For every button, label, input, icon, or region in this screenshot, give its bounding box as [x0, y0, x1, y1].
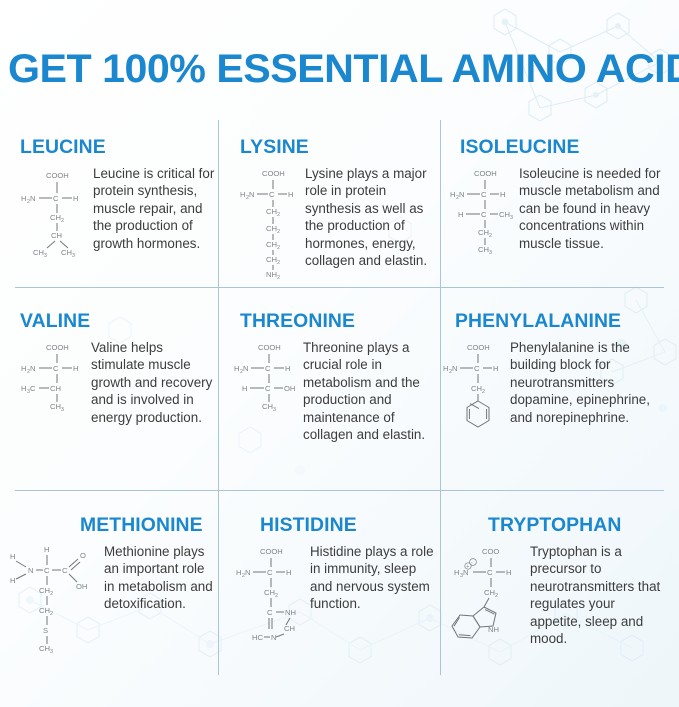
svg-text:C: C: [481, 190, 487, 199]
svg-text:2: 2: [277, 245, 280, 251]
svg-text:2: 2: [50, 611, 53, 617]
svg-text:H: H: [44, 545, 49, 554]
svg-text:N: N: [459, 190, 464, 199]
svg-text:2: 2: [275, 593, 278, 599]
structure-isoleucine: COOH H2N C H H C CH3 CH2: [460, 165, 516, 253]
svg-text:H: H: [286, 568, 291, 577]
svg-text:CH: CH: [284, 624, 295, 633]
page-title: GET 100% ESSENTIAL AMINO ACIDS: [8, 48, 679, 90]
svg-text:C: C: [269, 190, 275, 199]
card-lysine: LYSINE COOH H2N C H CH2 CH2: [240, 138, 436, 269]
svg-text:NH: NH: [266, 270, 277, 279]
svg-text:CH: CH: [39, 586, 50, 595]
svg-text:H: H: [450, 190, 455, 199]
svg-text:H: H: [506, 568, 511, 577]
svg-text:2: 2: [495, 593, 498, 599]
svg-text:3: 3: [489, 250, 492, 256]
svg-text:3: 3: [510, 215, 513, 221]
svg-text:CH: CH: [50, 213, 61, 222]
svg-text:C: C: [487, 568, 493, 577]
card-valine: VALINE COOH H2N C H H3C CH: [20, 312, 216, 426]
svg-text:C: C: [53, 364, 59, 373]
svg-text:CH: CH: [266, 207, 277, 216]
svg-text:C: C: [267, 608, 273, 617]
svg-text:CH: CH: [39, 606, 50, 615]
svg-text:H: H: [73, 194, 78, 203]
svg-text:C: C: [267, 568, 273, 577]
svg-text:COO: COO: [482, 547, 499, 556]
svg-text:CH: CH: [266, 240, 277, 249]
card-title-tryptophan: TRYPTOPHAN: [488, 516, 669, 536]
structure-histidine: COOH H2N C H CH2 C NH: [240, 543, 302, 643]
svg-text:C: C: [62, 566, 68, 575]
svg-text:COOH: COOH: [474, 169, 497, 178]
card-description-histidine: Histidine plays a role in immunity, slee…: [310, 543, 436, 613]
card-description-methionine: Methionine plays an important role in me…: [104, 543, 216, 613]
svg-text:N: N: [30, 364, 35, 373]
svg-text:H: H: [242, 384, 247, 393]
card-title-isoleucine: ISOLEUCINE: [460, 138, 669, 158]
svg-text:2: 2: [50, 591, 53, 597]
svg-text:CH: CH: [264, 588, 275, 597]
amino-acid-grid: LEUCINE COOH H2N C H CH2 CH: [0, 120, 679, 680]
svg-text:2: 2: [482, 389, 485, 395]
card-title-leucine: LEUCINE: [20, 138, 220, 158]
svg-text:CH: CH: [262, 402, 273, 411]
svg-text:COOH: COOH: [46, 171, 69, 180]
svg-text:S: S: [43, 626, 48, 635]
card-tryptophan: TRYPTOPHAN COO - H3N + C H: [460, 516, 665, 647]
card-description-threonine: Threonine plays a crucial role in metabo…: [303, 339, 436, 443]
svg-text:HC: HC: [252, 633, 263, 642]
structure-threonine: COOH H2N C H H C OH CH3: [240, 339, 300, 411]
structure-lysine: COOH H2N C H CH2 CH2 CH2: [240, 165, 302, 265]
card-histidine: HISTIDINE COOH H2N C H CH2 C: [240, 516, 436, 643]
svg-text:CH: CH: [499, 210, 510, 219]
svg-text:H: H: [240, 190, 245, 199]
svg-text:N: N: [28, 566, 33, 575]
card-description-isoleucine: Isoleucine is needed for muscle metaboli…: [519, 165, 665, 252]
svg-text:N: N: [452, 364, 457, 373]
grid-divider-vertical-1: [218, 120, 219, 675]
card-description-leucine: Leucine is critical for protein synthesi…: [93, 165, 216, 252]
svg-text:CH: CH: [266, 255, 277, 264]
card-title-phenylalanine: PHENYLALANINE: [455, 312, 671, 332]
svg-text:N: N: [30, 194, 35, 203]
structure-methionine: H H H N C C O: [20, 543, 96, 651]
svg-text:N: N: [271, 633, 276, 642]
svg-text:CH: CH: [33, 248, 44, 257]
card-description-tryptophan: Tryptophan is a precursor to neurotransm…: [530, 543, 665, 647]
svg-text:H: H: [234, 364, 239, 373]
svg-text:C: C: [265, 384, 271, 393]
svg-text:N: N: [243, 364, 248, 373]
svg-text:C: C: [53, 194, 59, 203]
svg-text:H: H: [458, 210, 463, 219]
card-title-valine: VALINE: [20, 312, 220, 332]
svg-text:2: 2: [489, 233, 492, 239]
svg-text:2: 2: [277, 212, 280, 218]
svg-text:H: H: [10, 576, 15, 585]
svg-text:2: 2: [277, 275, 280, 281]
svg-text:CH: CH: [50, 384, 61, 393]
svg-text:CH: CH: [39, 644, 50, 653]
svg-text:CH: CH: [51, 231, 62, 240]
svg-text:COOH: COOH: [262, 169, 285, 178]
svg-text:C: C: [30, 384, 36, 393]
svg-text:2: 2: [277, 260, 280, 266]
svg-text:H: H: [21, 194, 26, 203]
card-title-histidine: HISTIDINE: [260, 516, 440, 536]
svg-text:H: H: [443, 364, 448, 373]
svg-text:CH: CH: [478, 245, 489, 254]
svg-text:COOH: COOH: [467, 343, 490, 352]
structure-phenylalanine: COOH H2N C H CH2: [455, 339, 507, 429]
svg-text:H: H: [285, 364, 290, 373]
card-description-phenylalanine: Phenylalanine is the building block for …: [510, 339, 667, 426]
svg-text:COOH: COOH: [46, 343, 69, 352]
card-phenylalanine: PHENYLALANINE COOH H2N C H CH2: [455, 312, 667, 429]
svg-text:O: O: [80, 551, 86, 560]
svg-text:C: C: [265, 364, 271, 373]
svg-text:H: H: [21, 384, 26, 393]
svg-text:C: C: [44, 566, 50, 575]
svg-text:H: H: [500, 190, 505, 199]
card-title-threonine: THREONINE: [240, 312, 440, 332]
svg-text:H: H: [288, 190, 293, 199]
card-isoleucine: ISOLEUCINE COOH H2N C H H C: [460, 138, 665, 253]
svg-text:N: N: [249, 190, 254, 199]
grid-divider-horizontal-2: [15, 490, 664, 491]
structure-tryptophan: COO - H3N + C H CH2: [460, 543, 522, 643]
card-description-valine: Valine helps stimulate muscle growth and…: [91, 339, 216, 426]
svg-text:COOH: COOH: [260, 547, 283, 556]
card-title-lysine: LYSINE: [240, 138, 440, 158]
svg-text:CH: CH: [478, 228, 489, 237]
svg-text:CH: CH: [484, 588, 495, 597]
svg-text:C: C: [474, 364, 480, 373]
card-threonine: THREONINE COOH H2N C H H C: [240, 312, 436, 443]
svg-text:H: H: [454, 568, 459, 577]
svg-text:H: H: [493, 364, 498, 373]
svg-text:CH: CH: [50, 402, 61, 411]
svg-text:3: 3: [72, 253, 75, 259]
svg-text:3: 3: [44, 253, 47, 259]
svg-text:3: 3: [273, 407, 276, 413]
svg-text:H: H: [10, 552, 15, 561]
card-leucine: LEUCINE COOH H2N C H CH2 CH: [20, 138, 216, 257]
svg-text:OH: OH: [284, 384, 295, 393]
svg-text:CH: CH: [61, 248, 72, 257]
svg-text:2: 2: [277, 229, 280, 235]
card-title-methionine: METHIONINE: [80, 516, 219, 536]
svg-text:NH: NH: [285, 608, 296, 617]
svg-text:H: H: [21, 364, 26, 373]
card-description-lysine: Lysine plays a major role in protein syn…: [305, 165, 436, 269]
svg-text:H: H: [236, 568, 241, 577]
grid-divider-vertical-2: [440, 120, 441, 675]
svg-text:CH: CH: [471, 384, 482, 393]
svg-text:NH: NH: [488, 625, 499, 634]
svg-text:CH: CH: [266, 224, 277, 233]
svg-text:COOH: COOH: [258, 343, 281, 352]
structure-leucine: COOH H2N C H CH2 CH CH3 C: [20, 165, 90, 257]
structure-valine: COOH H2N C H H3C CH CH3: [20, 339, 88, 411]
svg-text:H: H: [73, 364, 78, 373]
svg-text:C: C: [481, 210, 487, 219]
svg-text:N: N: [245, 568, 250, 577]
svg-text:+: +: [466, 564, 469, 570]
grid-divider-horizontal-1: [15, 287, 664, 288]
svg-text:2: 2: [61, 218, 64, 224]
svg-text:3: 3: [50, 649, 53, 655]
svg-text:3: 3: [61, 407, 64, 413]
card-methionine: METHIONINE H H H N C C: [20, 516, 216, 651]
svg-text:OH: OH: [76, 582, 87, 591]
